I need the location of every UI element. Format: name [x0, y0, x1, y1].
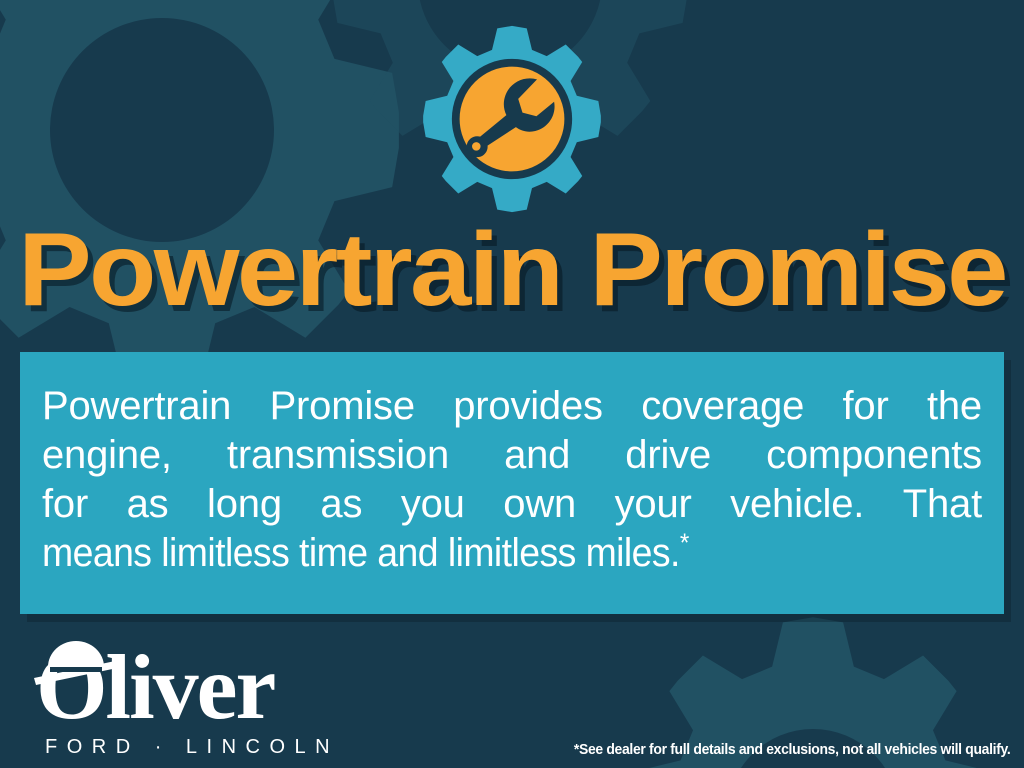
- body-line: means limitless time and limitless miles…: [42, 529, 921, 578]
- body-word: drive: [625, 431, 711, 480]
- body-word: That: [903, 480, 982, 529]
- body-line: engine, transmission and drive component…: [42, 431, 982, 480]
- footnote-marker: *: [680, 528, 689, 558]
- body-word: the: [927, 382, 982, 431]
- body-word: for: [42, 480, 88, 529]
- body-word: own: [503, 480, 576, 529]
- body-word: for: [843, 382, 889, 431]
- body-text: means limitless time and limitless miles…: [42, 531, 680, 575]
- body-word: as: [127, 480, 169, 529]
- gear-wrench-icon: [415, 22, 609, 216]
- body-word: engine,: [42, 431, 172, 480]
- oliver-wordmark: Oliver: [28, 640, 328, 732]
- body-word: coverage: [641, 382, 804, 431]
- page-title: Powertrain Promise: [0, 218, 1024, 322]
- description-panel: Powertrain Promise provides coverage for…: [20, 352, 1004, 614]
- background-gear-icon: [0, 0, 442, 410]
- dealer-logo-subtitle: FORD · LINCOLN: [45, 736, 339, 759]
- body-word: and: [504, 431, 570, 480]
- body-line: for as long as you own your vehicle. Tha…: [42, 480, 982, 529]
- body-word: Powertrain: [42, 382, 231, 431]
- powertrain-promise-poster: Powertrain Promise Powertrain Promise pr…: [0, 0, 1024, 768]
- body-word: transmission: [227, 431, 449, 480]
- body-word: vehicle.: [730, 480, 864, 529]
- body-word: components: [766, 431, 982, 480]
- dealer-logo: Oliver FORD · LINCOLN: [28, 640, 328, 758]
- body-word: your: [615, 480, 692, 529]
- body-word: long: [207, 480, 282, 529]
- body-line: Powertrain Promise provides coverage for…: [42, 382, 982, 431]
- body-word: provides: [453, 382, 603, 431]
- body-word: Promise: [270, 382, 415, 431]
- body-word: as: [320, 480, 362, 529]
- disclaimer-text: *See dealer for full details and exclusi…: [573, 741, 1010, 758]
- body-word: you: [401, 480, 465, 529]
